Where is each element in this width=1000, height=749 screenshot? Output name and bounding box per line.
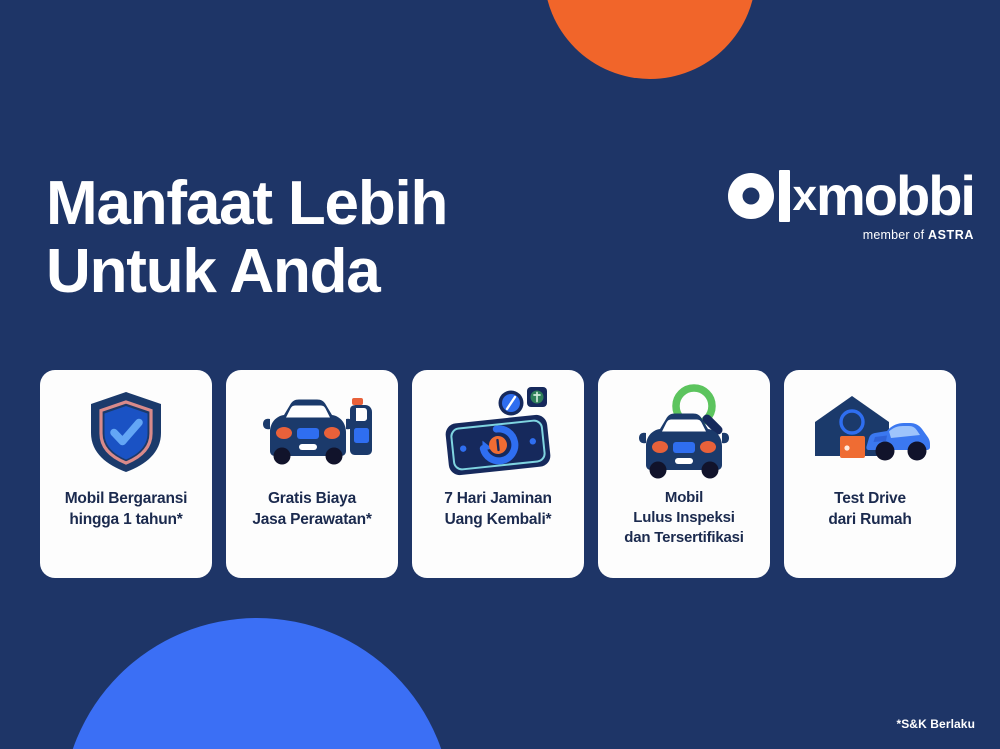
money-back-icon (420, 376, 576, 488)
benefit-card[interactable]: Gratis Biaya Jasa Perawatan* (226, 370, 398, 578)
label-line: Test Drive (792, 488, 948, 509)
label-line: hingga 1 tahun* (48, 509, 204, 530)
label-line: Uang Kembali* (420, 509, 576, 530)
home-test-drive-icon (792, 376, 948, 488)
benefit-card-row: Mobil Bergaransi hingga 1 tahun* (40, 370, 956, 578)
label-line: Mobil (606, 488, 762, 508)
benefit-card-label: Mobil Lulus Inspeksi dan Tersertifikasi (606, 488, 762, 548)
headline-line-2: Untuk Anda (46, 238, 586, 306)
benefit-card[interactable]: Mobil Bergaransi hingga 1 tahun* (40, 370, 212, 578)
logo-bar-icon (779, 170, 790, 222)
benefit-card[interactable]: Test Drive dari Rumah (784, 370, 956, 578)
decorative-blue-circle (62, 618, 452, 749)
logo-word-mobbi: mobbi (816, 168, 974, 224)
logo-o-icon (728, 173, 774, 219)
benefit-card-label: Mobil Bergaransi hingga 1 tahun* (48, 488, 204, 530)
label-line: dan Tersertifikasi (606, 528, 762, 548)
label-line: Gratis Biaya (234, 488, 390, 509)
poster-canvas: Manfaat Lebih Untuk Anda x mobbi member … (0, 0, 1000, 749)
logo-member-line: member of ASTRA (728, 228, 974, 242)
label-line: dari Rumah (792, 509, 948, 530)
logo-letter-x: x (793, 168, 815, 224)
headline-line-1: Manfaat Lebih (46, 170, 586, 238)
headline: Manfaat Lebih Untuk Anda (46, 170, 586, 306)
label-line: Mobil Bergaransi (48, 488, 204, 509)
benefit-card[interactable]: 7 Hari Jaminan Uang Kembali* (412, 370, 584, 578)
label-line: 7 Hari Jaminan (420, 488, 576, 509)
logo-member-brand: ASTRA (928, 228, 974, 242)
brand-logo: x mobbi member of ASTRA (728, 168, 974, 242)
shield-check-icon (48, 376, 204, 488)
decorative-orange-circle (544, 0, 756, 79)
car-inspection-icon (606, 376, 762, 488)
label-line: Jasa Perawatan* (234, 509, 390, 530)
benefit-card-label: 7 Hari Jaminan Uang Kembali* (420, 488, 576, 530)
label-line: Lulus Inspeksi (606, 508, 762, 528)
footnote-terms: *S&K Berlaku (896, 717, 975, 731)
benefit-card[interactable]: Mobil Lulus Inspeksi dan Tersertifikasi (598, 370, 770, 578)
car-oil-bottle-icon (234, 376, 390, 488)
benefit-card-label: Gratis Biaya Jasa Perawatan* (234, 488, 390, 530)
benefit-card-label: Test Drive dari Rumah (792, 488, 948, 530)
logo-member-prefix: member of (863, 228, 928, 242)
logo-wordmark: x mobbi (728, 168, 974, 224)
